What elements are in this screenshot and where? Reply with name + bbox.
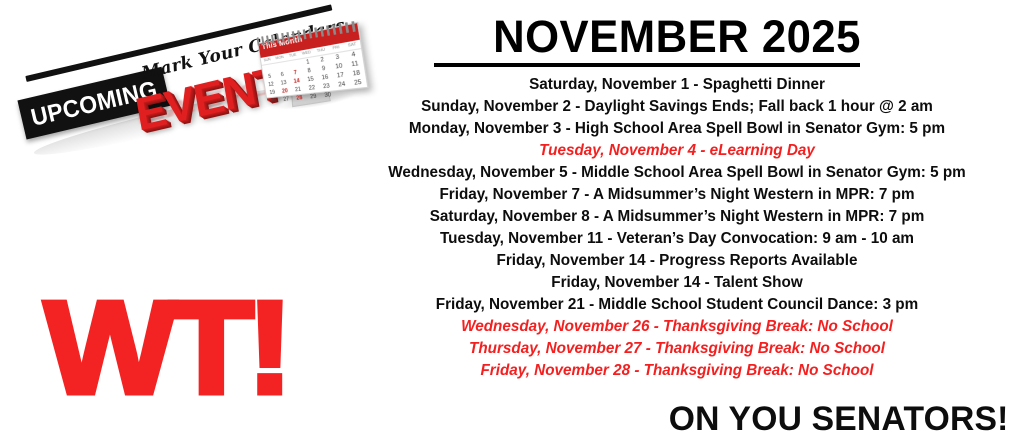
event-line: Friday, November 14 - Progress Reports A… xyxy=(335,250,1019,272)
upcoming-events-graphic: EVENTS UPCOMING Mark Your Calendars EVEN… xyxy=(8,2,353,177)
event-line: Sunday, November 2 - Daylight Savings En… xyxy=(335,96,1019,118)
footer-tagline: ON YOU SENATORS! xyxy=(668,399,1008,439)
calendar-date-cell: 29 xyxy=(306,92,322,102)
event-line: Wednesday, November 5 - Middle School Ar… xyxy=(335,162,1019,184)
title-underline xyxy=(434,63,860,67)
event-list: Saturday, November 1 - Spaghetti DinnerS… xyxy=(330,74,1024,382)
calendar-date-cell: 28 xyxy=(292,93,307,103)
event-line: Saturday, November 1 - Spaghetti Dinner xyxy=(335,74,1019,96)
flyer-page: EVENTS UPCOMING Mark Your Calendars EVEN… xyxy=(0,0,1024,445)
event-line: Friday, November 21 - Middle School Stud… xyxy=(335,294,1019,316)
wt-logo: WT! xyxy=(44,282,286,414)
content-column: NOVEMBER 2025 Saturday, November 1 - Spa… xyxy=(330,0,1024,445)
event-line: Friday, November 7 - A Midsummer’s Night… xyxy=(335,184,1019,206)
page-title: NOVEMBER 2025 xyxy=(340,12,1013,62)
calendar-date-cell: 27 xyxy=(279,95,293,104)
event-line: Thursday, November 27 - Thanksgiving Bre… xyxy=(335,338,1019,360)
event-line: Tuesday, November 4 - eLearning Day xyxy=(335,140,1019,162)
event-line: Tuesday, November 11 - Veteran’s Day Con… xyxy=(335,228,1019,250)
event-line: Friday, November 28 - Thanksgiving Break… xyxy=(335,360,1019,382)
event-line: Monday, November 3 - High School Area Sp… xyxy=(335,118,1019,140)
event-line: Friday, November 14 - Talent Show xyxy=(335,272,1019,294)
event-line: Saturday, November 8 - A Midsummer’s Nig… xyxy=(335,206,1019,228)
event-line: Wednesday, November 26 - Thanksgiving Br… xyxy=(335,316,1019,338)
